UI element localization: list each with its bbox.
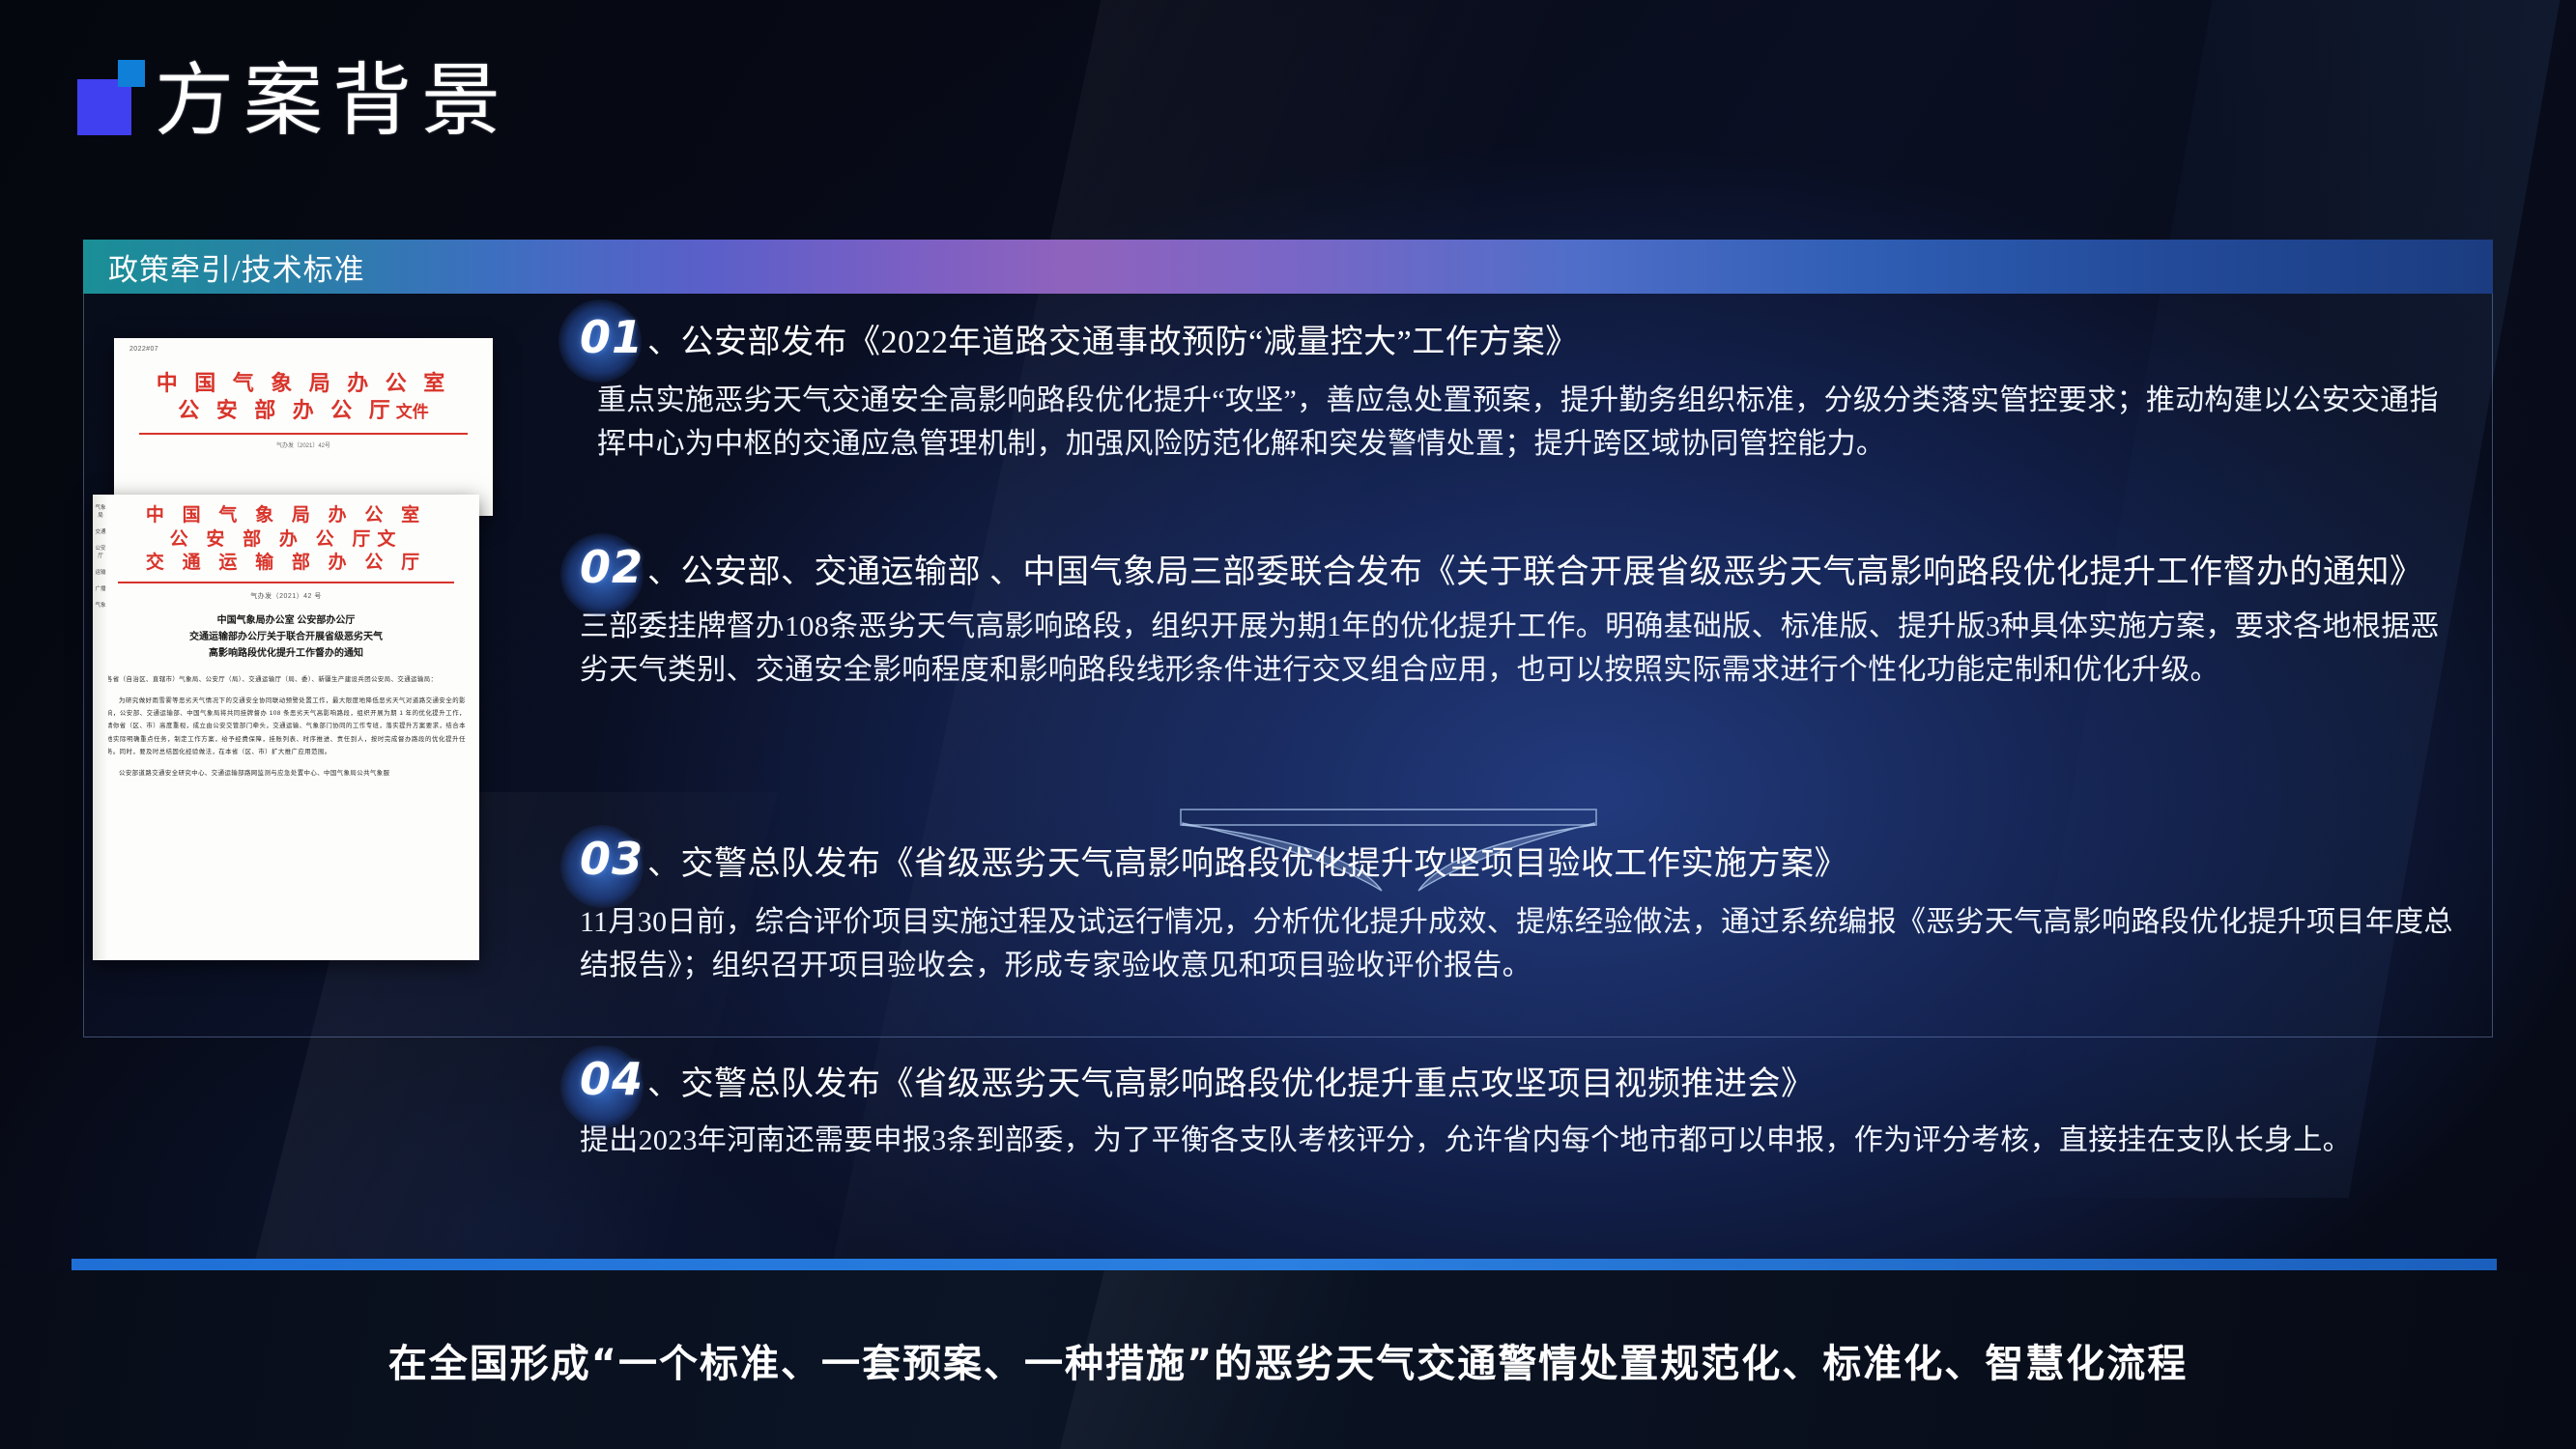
document-back: 气象局 交通 公安厅 运输 广播 气象 中 国 气 象 局 办 公 室 公 安 … — [93, 495, 479, 960]
document-front-code: 2022#07 — [114, 338, 493, 353]
document-back-title-line-3: 高影响路段优化提升工作督办的通知 — [93, 645, 479, 662]
item-04-heading: 04 、交警总队发布《省级恶劣天气高影响路段优化提升重点攻坚项目视频推进会》 — [580, 1053, 2474, 1107]
document-front-subnumber: 气办发〔2021〕42号 — [114, 440, 493, 449]
item-01-number: 01 — [580, 311, 644, 363]
item-03-heading-text: 、交警总队发布《省级恶劣天气高影响路段优化提升攻坚项目验收工作实施方案》 — [647, 843, 1847, 887]
document-front-red-title: 中 国 气 象 局 办 公 室 公 安 部 办 公 厅文件 — [114, 370, 493, 423]
item-04-body: 提出2023年河南还需要申报3条到部委，为了平衡各支队考核评分，允许省内每个地市… — [580, 1119, 2416, 1163]
side-strip-item-4: 运输 — [93, 568, 108, 576]
item-04-heading-text: 、交警总队发布《省级恶劣天气高影响路段优化提升重点攻坚项目视频推进会》 — [647, 1064, 1815, 1107]
document-back-title-line-1: 中国气象局办公室 公安部办公厅 — [93, 612, 479, 629]
section-label-text: 政策牵引/技术标准 — [83, 245, 365, 289]
item-03-number: 03 — [580, 833, 644, 885]
slide-root: 方案背景 政策牵引/技术标准 2022#07 中 国 气 象 局 办 公 室 公… — [0, 0, 2576, 1449]
item-01-heading: 01 、公安部发布《2022年道路交通事故预防“减量控大”工作方案》 — [580, 311, 2474, 365]
document-images: 2022#07 中 国 气 象 局 办 公 室 公 安 部 办 公 厅文件 气办… — [93, 338, 557, 956]
side-strip-item-2: 交通 — [93, 527, 108, 535]
document-back-body-para-1: 各省（自治区、直辖市）气象局、公安厅（局）、交通运输厅（局、委）、新疆生产建设兵… — [106, 673, 466, 686]
document-back-title-block: 中国气象局办公室 公安部办公厅 交通运输部办公厅关于联合开展省级恶劣天气 高影响… — [93, 612, 479, 662]
policy-item-04: 04 、交警总队发布《省级恶劣天气高影响路段优化提升重点攻坚项目视频推进会》 提… — [580, 1053, 2474, 1162]
title-row: 方案背景 — [72, 60, 510, 137]
section-label-bar: 政策牵引/技术标准 — [83, 240, 2493, 294]
item-02-body: 三部委挂牌督办108条恶劣天气高影响路段，组织开展为期1年的优化提升工作。明确基… — [580, 605, 2464, 693]
document-back-red-line-3: 交 通 运 输 部 办 公 厅 — [93, 552, 479, 576]
document-front-red-line-2: 公 安 部 办 公 厅 — [178, 398, 396, 422]
title-square-mark — [72, 60, 141, 137]
document-front-rule — [139, 433, 468, 435]
item-01-body: 重点实施恶劣天气交通安全高影响路段优化提升“攻坚”，善应急处置预案，提升勤务组织… — [580, 379, 2445, 467]
square-big-icon — [77, 79, 131, 135]
document-front: 2022#07 中 国 气 象 局 办 公 室 公 安 部 办 公 厅文件 气办… — [114, 338, 493, 516]
bottom-rule — [72, 1259, 2497, 1270]
square-small-icon — [118, 60, 145, 87]
document-back-red-line-2: 公 安 部 办 公 厅文 — [93, 528, 479, 553]
document-back-header: 中 国 气 象 局 办 公 室 公 安 部 办 公 厅文 交 通 运 输 部 办… — [93, 495, 479, 780]
banner-sheen — [1060, 1270, 1356, 1449]
item-02-heading: 02 、公安部、交通运输部 、中国气象局三部委联合发布《关于联合开展省级恶劣天气… — [580, 541, 2474, 595]
policy-item-01: 01 、公安部发布《2022年道路交通事故预防“减量控大”工作方案》 重点实施恶… — [580, 311, 2474, 467]
item-01-heading-text: 、公安部发布《2022年道路交通事故预防“减量控大”工作方案》 — [647, 322, 1579, 365]
document-back-body-para-2: 为研究做好雨雪雾等恶劣天气情况下的交通安全协同联动预警处置工作，最大限度地降低恶… — [106, 695, 466, 758]
document-back-side-strip: 气象局 交通 公安厅 运输 广播 气象 — [93, 495, 108, 960]
item-03-body: 11月30日前，综合评价项目实施过程及试运行情况，分析优化提升成效、提炼经验做法… — [580, 900, 2464, 988]
document-front-red-suffix: 文件 — [396, 403, 429, 421]
document-back-title-line-2: 交通运输部办公厅关于联合开展省级恶劣天气 — [93, 629, 479, 645]
document-back-code: 气办发（2021）42 号 — [93, 591, 479, 601]
document-front-red-line-1: 中 国 气 象 局 办 公 室 — [114, 370, 493, 397]
side-strip-item-1: 气象局 — [93, 503, 108, 519]
side-strip-item-5: 广播 — [93, 584, 108, 592]
item-02-heading-text: 、公安部、交通运输部 、中国气象局三部委联合发布《关于联合开展省级恶劣天气高影响… — [647, 552, 2464, 595]
bottom-banner: 在全国形成“一个标准、一套预案、一种措施”的恶劣天气交通警情处置规范化、标准化、… — [0, 1270, 2576, 1449]
policy-item-03: 03 、交警总队发布《省级恶劣天气高影响路段优化提升攻坚项目验收工作实施方案》 … — [580, 833, 2474, 988]
document-back-rule — [118, 582, 454, 583]
document-back-red-title: 中 国 气 象 局 办 公 室 公 安 部 办 公 厅文 交 通 运 输 部 办… — [93, 504, 479, 576]
document-back-body-para-3: 公安部道路交通安全研究中心、交通运输部路网监测与应急处置中心、中国气象局公共气象… — [106, 767, 466, 780]
side-strip-item-6: 气象 — [93, 601, 108, 609]
item-02-number: 02 — [580, 541, 644, 593]
page-title: 方案背景 — [155, 65, 510, 137]
item-03-heading: 03 、交警总队发布《省级恶劣天气高影响路段优化提升攻坚项目验收工作实施方案》 — [580, 833, 2474, 887]
document-back-red-line-1: 中 国 气 象 局 办 公 室 — [93, 504, 479, 528]
policy-item-02: 02 、公安部、交通运输部 、中国气象局三部委联合发布《关于联合开展省级恶劣天气… — [580, 541, 2474, 693]
item-04-number: 04 — [580, 1053, 644, 1105]
document-back-body: 各省（自治区、直辖市）气象局、公安厅（局）、交通运输厅（局、委）、新疆生产建设兵… — [106, 673, 466, 780]
side-strip-item-3: 公安厅 — [93, 544, 108, 559]
